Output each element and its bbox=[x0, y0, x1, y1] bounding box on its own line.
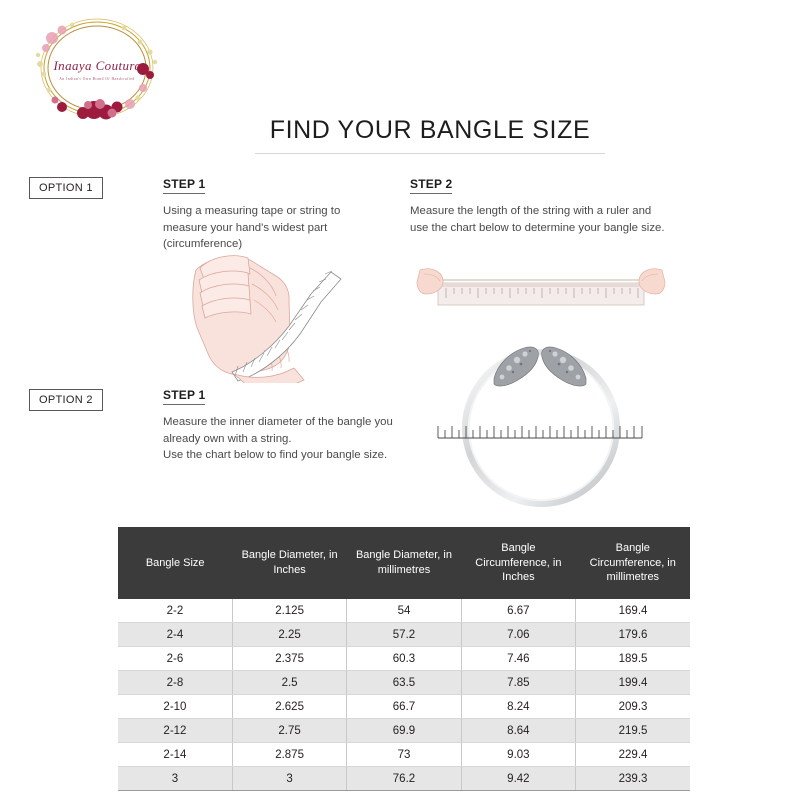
table-row: 2-62.37560.37.46189.5 bbox=[118, 647, 690, 671]
table-cell-2: 66.7 bbox=[347, 695, 461, 719]
table-cell-4: 179.6 bbox=[576, 623, 690, 647]
table-cell-4: 219.5 bbox=[576, 719, 690, 743]
hands-holding-string-on-ruler-illustration bbox=[416, 252, 666, 322]
table-cell-1: 2.25 bbox=[232, 623, 346, 647]
column-header-diameter-millimetres: Bangle Diameter, in millimetres bbox=[347, 527, 461, 599]
table-cell-3: 7.06 bbox=[461, 623, 575, 647]
table-row: 2-42.2557.27.06179.6 bbox=[118, 623, 690, 647]
page-header: FIND YOUR BANGLE SIZE bbox=[255, 116, 605, 154]
brand-logo: Inaaya Couture An Indian's Own Brand Of … bbox=[22, 12, 172, 124]
brand-name: Inaaya Couture bbox=[52, 58, 140, 73]
table-cell-3: 8.64 bbox=[461, 719, 575, 743]
step-heading: STEP 2 bbox=[410, 177, 452, 194]
table-cell-1: 2.625 bbox=[232, 695, 346, 719]
page-title: FIND YOUR BANGLE SIZE bbox=[255, 116, 605, 145]
step-heading: STEP 1 bbox=[163, 388, 205, 405]
table-cell-1: 2.75 bbox=[232, 719, 346, 743]
table-cell-0: 2-2 bbox=[118, 599, 232, 623]
step-description: Measure the inner diameter of the bangle… bbox=[163, 414, 408, 464]
option-1-step-1: STEP 1 Using a measuring tape or string … bbox=[163, 175, 378, 253]
option-1-badge: OPTION 1 bbox=[29, 177, 103, 199]
table-cell-4: 169.4 bbox=[576, 599, 690, 623]
table-cell-3: 6.67 bbox=[461, 599, 575, 623]
option-1-step-2: STEP 2 Measure the length of the string … bbox=[410, 175, 665, 236]
table-cell-2: 60.3 bbox=[347, 647, 461, 671]
table-row: 2-122.7569.98.64219.5 bbox=[118, 719, 690, 743]
table-cell-1: 3 bbox=[232, 767, 346, 791]
table-cell-1: 2.5 bbox=[232, 671, 346, 695]
step-description: Measure the length of the string with a … bbox=[410, 203, 665, 236]
step-heading: STEP 1 bbox=[163, 177, 205, 194]
table-cell-3: 9.42 bbox=[461, 767, 575, 791]
table-cell-3: 9.03 bbox=[461, 743, 575, 767]
table-cell-3: 8.24 bbox=[461, 695, 575, 719]
table-cell-1: 2.375 bbox=[232, 647, 346, 671]
table-cell-0: 2-14 bbox=[118, 743, 232, 767]
table-cell-4: 229.4 bbox=[576, 743, 690, 767]
table-cell-0: 3 bbox=[118, 767, 232, 791]
column-header-circumference-inches: Bangle Circumference, in Inches bbox=[461, 527, 575, 599]
silver-bangle-with-ruler-illustration bbox=[424, 334, 656, 514]
column-header-diameter-inches: Bangle Diameter, in Inches bbox=[232, 527, 346, 599]
table-cell-3: 7.85 bbox=[461, 671, 575, 695]
table-header-row: Bangle Size Bangle Diameter, in Inches B… bbox=[118, 527, 690, 599]
table-cell-4: 209.3 bbox=[576, 695, 690, 719]
table-row: 2-102.62566.78.24209.3 bbox=[118, 695, 690, 719]
table-cell-2: 69.9 bbox=[347, 719, 461, 743]
bangle-size-table: Bangle Size Bangle Diameter, in Inches B… bbox=[118, 527, 690, 791]
table-cell-2: 73 bbox=[347, 743, 461, 767]
table-row: 3376.29.42239.3 bbox=[118, 767, 690, 791]
title-divider bbox=[255, 153, 605, 154]
table-row: 2-22.125546.67169.4 bbox=[118, 599, 690, 623]
table-cell-4: 199.4 bbox=[576, 671, 690, 695]
step-description: Using a measuring tape or string to meas… bbox=[163, 203, 378, 253]
table-cell-2: 63.5 bbox=[347, 671, 461, 695]
option-2-step-1: STEP 1 Measure the inner diameter of the… bbox=[163, 386, 408, 464]
table-cell-0: 2-6 bbox=[118, 647, 232, 671]
table-cell-1: 2.125 bbox=[232, 599, 346, 623]
column-header-circumference-millimetres: Bangle Circumference, in millimetres bbox=[576, 527, 690, 599]
table-cell-2: 54 bbox=[347, 599, 461, 623]
table-cell-2: 76.2 bbox=[347, 767, 461, 791]
brand-tagline: An Indian's Own Brand Of Handcrafted bbox=[59, 77, 134, 81]
table-cell-0: 2-8 bbox=[118, 671, 232, 695]
table-cell-2: 57.2 bbox=[347, 623, 461, 647]
table-row: 2-82.563.57.85199.4 bbox=[118, 671, 690, 695]
column-header-bangle-size: Bangle Size bbox=[118, 527, 232, 599]
table-cell-4: 239.3 bbox=[576, 767, 690, 791]
table-row: 2-142.875739.03229.4 bbox=[118, 743, 690, 767]
option-2-badge: OPTION 2 bbox=[29, 389, 103, 411]
hand-with-measuring-tape-illustration bbox=[190, 248, 365, 383]
table-cell-4: 189.5 bbox=[576, 647, 690, 671]
floral-wreath-icon: Inaaya Couture An Indian's Own Brand Of … bbox=[22, 12, 172, 124]
table-cell-3: 7.46 bbox=[461, 647, 575, 671]
table-cell-1: 2.875 bbox=[232, 743, 346, 767]
table-cell-0: 2-4 bbox=[118, 623, 232, 647]
table-cell-0: 2-10 bbox=[118, 695, 232, 719]
table-cell-0: 2-12 bbox=[118, 719, 232, 743]
